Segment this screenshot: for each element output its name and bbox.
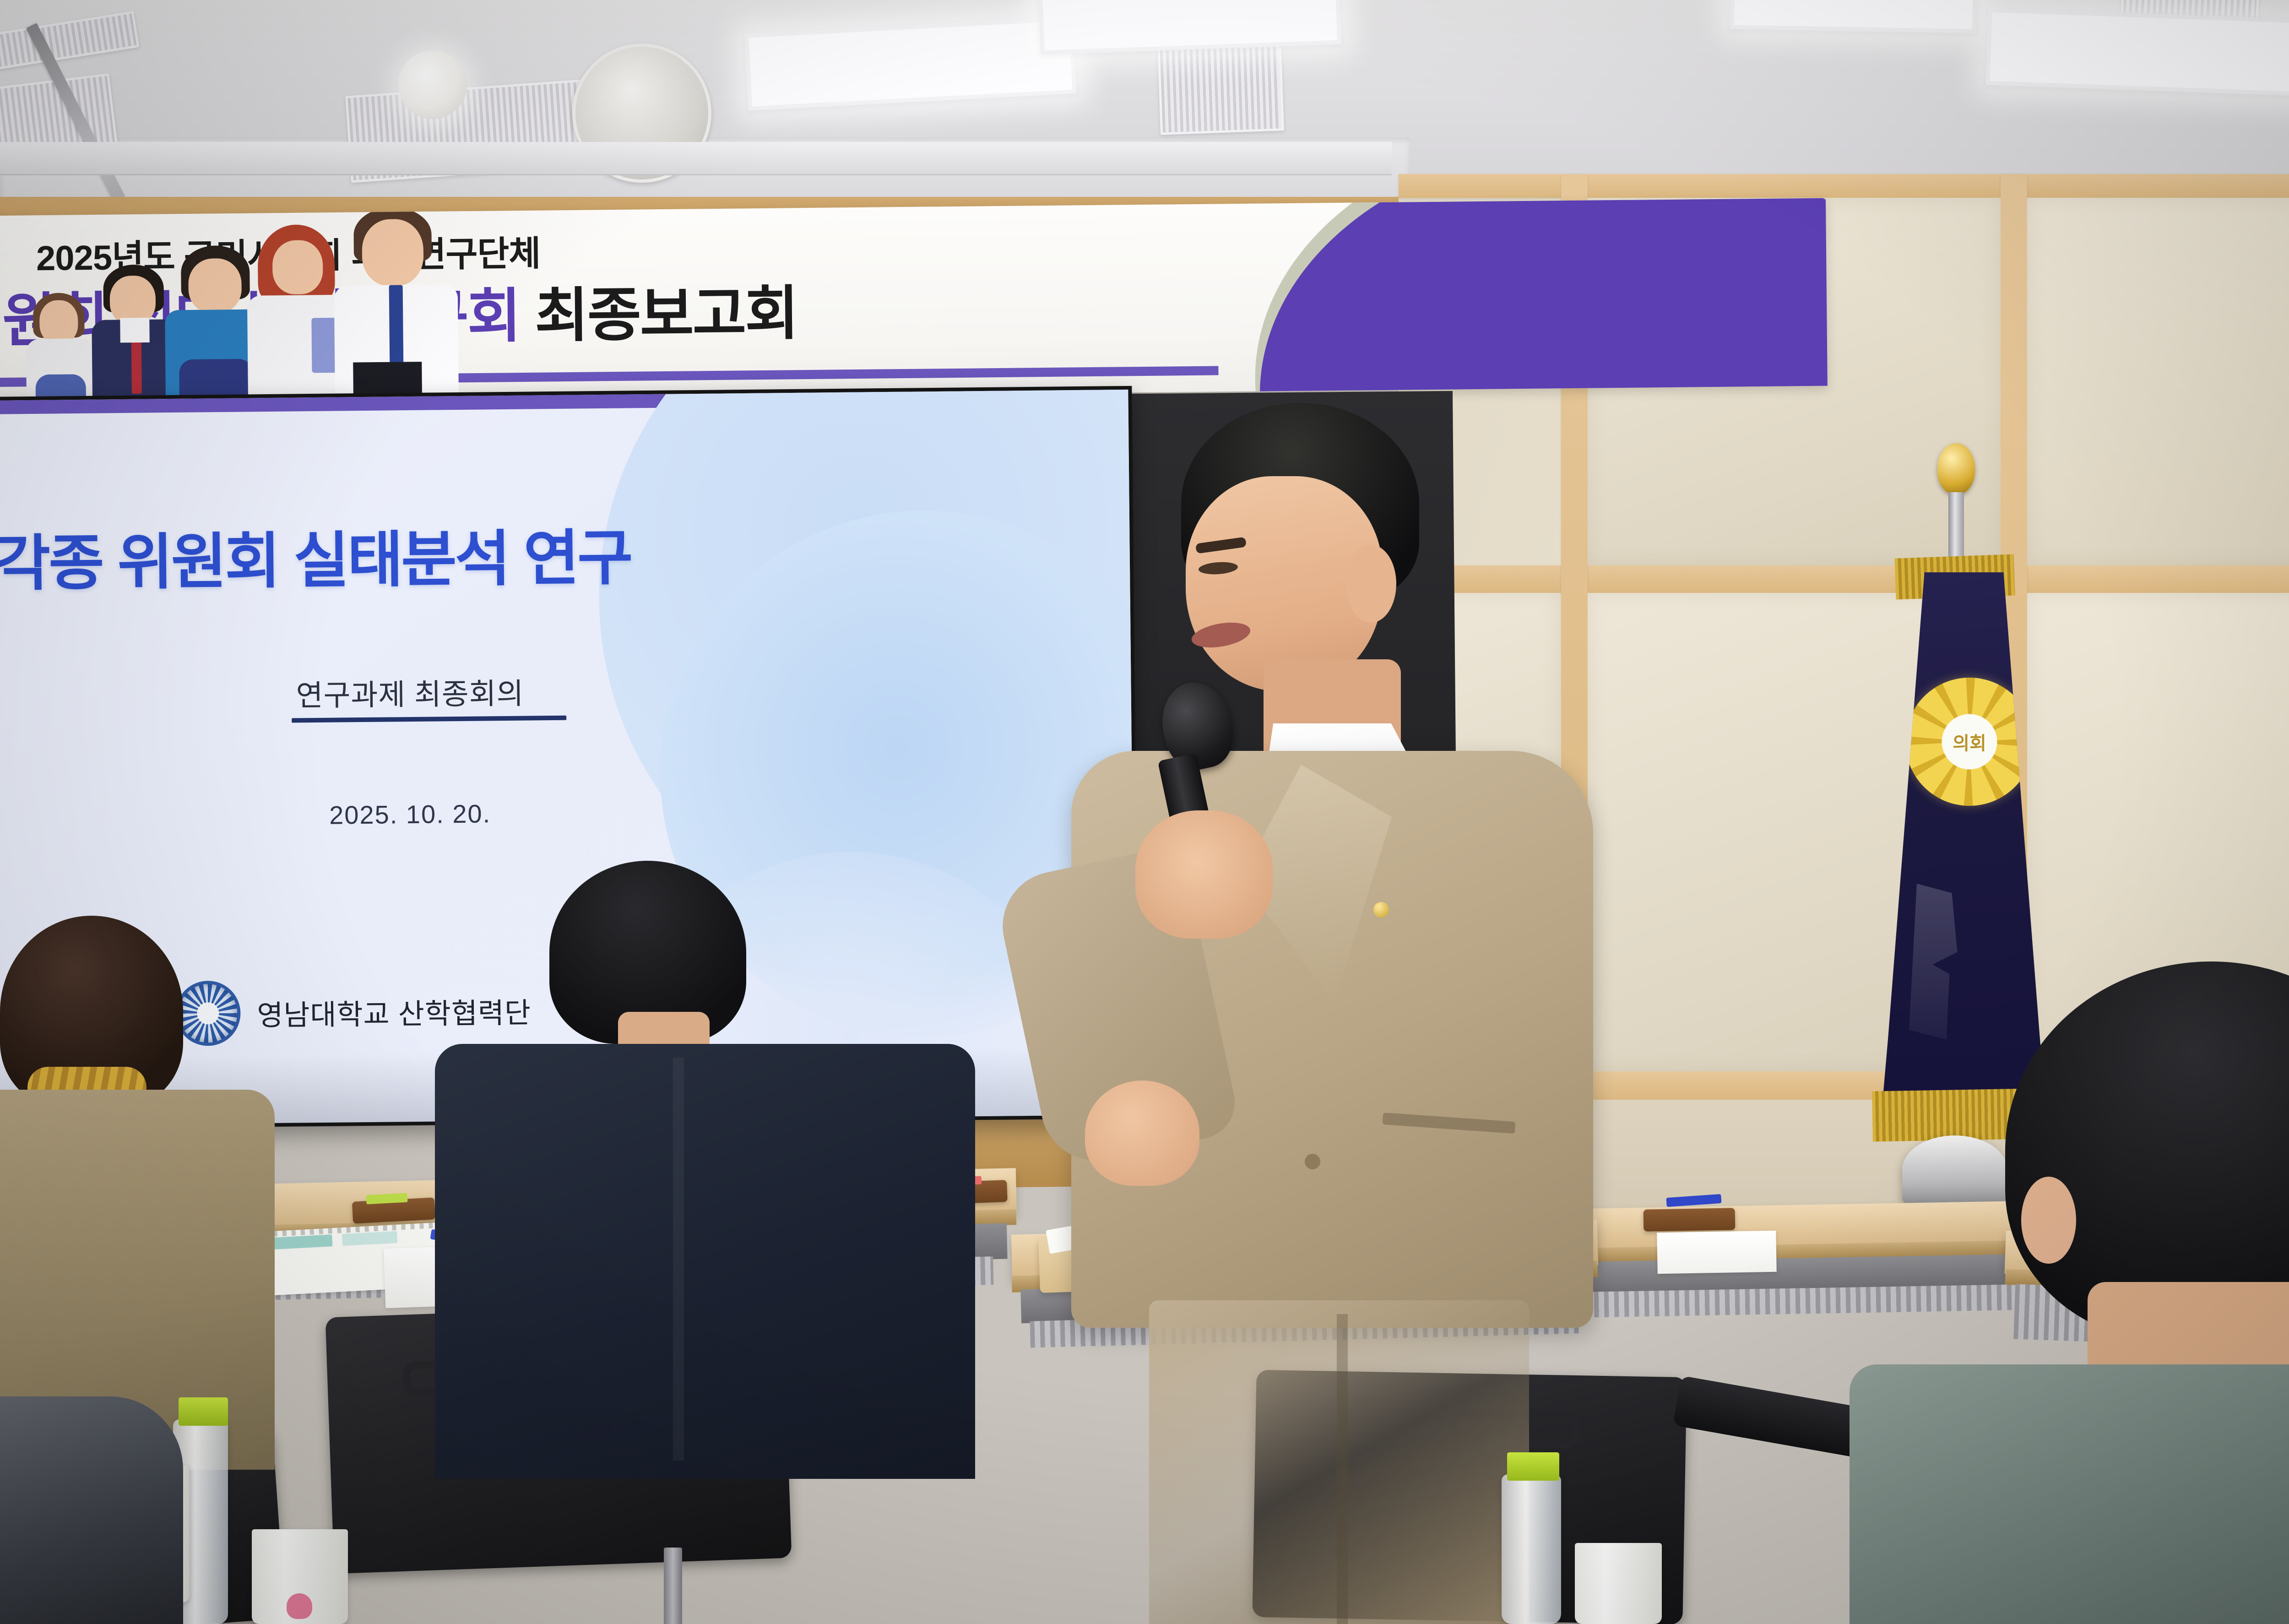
slide-date: 2025. 10. 20.: [329, 798, 491, 830]
water-bottle-cap[interactable]: [179, 1397, 228, 1426]
desk-microphone: [1644, 1208, 1736, 1231]
suit-seam: [673, 1058, 684, 1461]
paper-cup[interactable]: [252, 1529, 348, 1624]
lapel-pin-icon: [1373, 902, 1389, 918]
cup-logo-icon: [287, 1593, 312, 1619]
foreground-shoulder: [0, 1396, 183, 1624]
slide-subtitle-underline: [292, 716, 566, 723]
water-bottle-cap[interactable]: [1507, 1452, 1559, 1481]
wall-panel-fabric: [2027, 198, 2289, 565]
flag-finial-icon: [1937, 443, 1975, 494]
banner-title-black: 최종보고회: [534, 281, 797, 349]
jacket-button: [1305, 1154, 1320, 1169]
trouser-crease: [1337, 1314, 1348, 1624]
speaker-hand-gesture: [1085, 1081, 1199, 1186]
ceiling-panel-light: [1985, 8, 2289, 97]
speaker-ear: [1346, 545, 1396, 623]
attendee-center-man: [435, 861, 975, 1474]
person-suit: [435, 1044, 975, 1479]
chair-armrest: [1673, 1375, 1871, 1458]
wall-panel-rail-top: [1399, 174, 2289, 198]
slide-title: 구미시 각종 위원회 실태분석 연구: [0, 506, 918, 604]
document-paper: [1657, 1231, 1777, 1274]
event-banner: 2025년도 구미시의회 의원연구단체 위원회 실태 분석 연구회 최종보고회 …: [0, 198, 1828, 404]
speaker-hand-holding-mic: [1135, 810, 1273, 939]
chair-post: [664, 1548, 682, 1624]
slide-subtitle: 연구과제 최종회의: [296, 670, 524, 715]
person-shirt: [1850, 1364, 2289, 1624]
water-bottle[interactable]: [1502, 1474, 1561, 1624]
banner-figure-5: [333, 211, 459, 400]
ceiling-panel-light: [1730, 0, 1977, 33]
downlight: [398, 50, 467, 119]
flag-emblem-text: 의회: [1944, 716, 1995, 767]
person-ear: [2021, 1177, 2076, 1264]
banner-figure-1: [26, 288, 95, 403]
attendee-right-man: [1936, 961, 2289, 1624]
attendee-left-woman: [0, 916, 320, 1465]
ceiling-trim-rail: [0, 142, 1392, 175]
speaker-presenter: [1090, 403, 1602, 1624]
conference-room-photo: 2025년도 구미시의회 의원연구단체 위원회 실태 분석 연구회 최종보고회 …: [0, 0, 2289, 1624]
paper-cup[interactable]: [1575, 1543, 1662, 1624]
